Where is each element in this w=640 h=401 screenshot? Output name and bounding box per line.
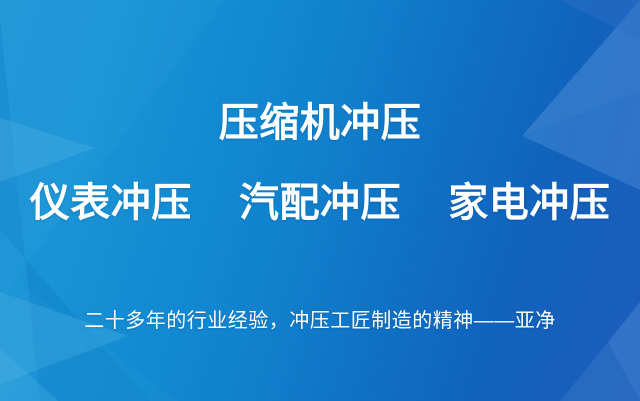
subtitle-segment-3: 家电冲压 [448,181,610,225]
subtitle-segment-1: 仪表冲压 [30,181,192,225]
banner-subtitle: 仪表冲压 汽配冲压 家电冲压 [0,181,640,225]
banner-tagline: 二十多年的行业经验，冲压工匠制造的精神——亚净 [0,308,640,334]
subtitle-segment-2: 汽配冲压 [239,181,401,225]
promo-banner: 压缩机冲压 仪表冲压 汽配冲压 家电冲压 二十多年的行业经验，冲压工匠制造的精神… [0,0,640,401]
banner-text-layer: 压缩机冲压 仪表冲压 汽配冲压 家电冲压 二十多年的行业经验，冲压工匠制造的精神… [0,0,640,401]
banner-main-title: 压缩机冲压 [0,101,640,145]
